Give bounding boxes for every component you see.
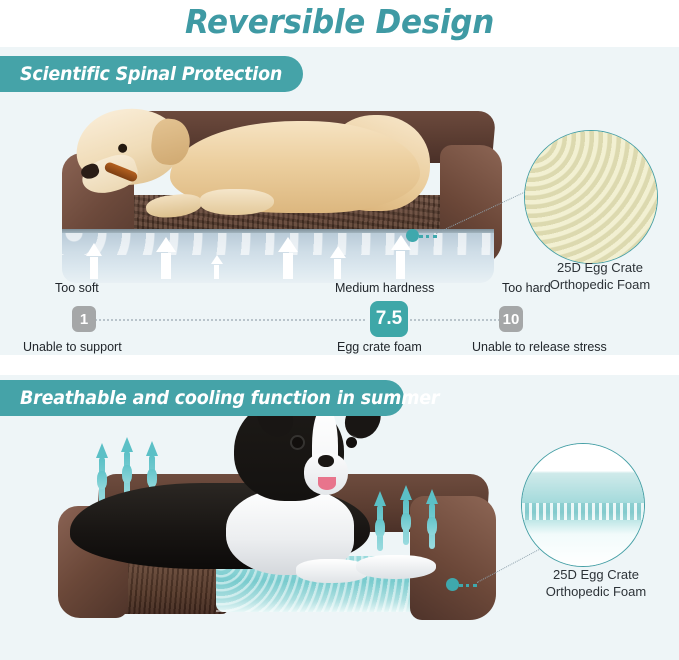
pressure-arrow: [334, 259, 341, 279]
section-2-scene: 25D Egg Crate Orthopedic Foam: [0, 375, 679, 660]
hardness-value-10: 10: [499, 306, 523, 332]
callout-line-1: 25D Egg Crate: [516, 566, 676, 583]
infographic-page: Reversible Design: [0, 0, 679, 660]
callout-line-2: Orthopedic Foam: [516, 583, 676, 600]
pressure-arrow: [283, 253, 293, 279]
hardness-value-1: 1: [72, 306, 96, 332]
hardness-label-too-soft: Too soft: [55, 281, 99, 295]
golden-retriever-illustration: [58, 97, 418, 237]
section-1-banner-label: Scientific Spinal Protection: [20, 63, 282, 85]
callout-anchor-dot: [446, 578, 459, 591]
section-1-scene: 25D Egg Crate Orthopedic Foam Too soft M…: [0, 47, 679, 355]
dog-eye: [292, 437, 303, 448]
dog-eye: [346, 437, 357, 448]
hardness-gradient-band: [62, 233, 494, 283]
dog-eye: [118, 143, 128, 153]
section-2-banner-label: Breathable and cooling function in summe…: [20, 387, 439, 409]
hardness-caption-1: Unable to support: [23, 340, 122, 354]
dog-nose: [318, 455, 334, 467]
pressure-arrow: [90, 257, 98, 279]
callout-anchor-dot: [406, 229, 419, 242]
callout-anchor-tail: [419, 235, 437, 238]
callout-line-1: 25D Egg Crate: [520, 259, 679, 276]
pressure-arrow: [161, 253, 171, 279]
dog-paw: [200, 189, 274, 215]
hardness-caption-10: Unable to release stress: [472, 340, 607, 354]
dog-paw: [145, 192, 203, 220]
section-divider: [0, 355, 679, 375]
cooling-gel-foam-texture: [522, 444, 644, 566]
section-1-banner: Scientific Spinal Protection: [0, 56, 303, 92]
scale-dotted-line-right: [410, 319, 500, 321]
dog-tongue: [318, 477, 336, 490]
egg-crate-foam-texture: [525, 131, 657, 263]
dog-paw: [356, 555, 436, 579]
pressure-arrow: [214, 265, 219, 279]
hardness-value-7-5: 7.5: [370, 301, 408, 337]
cooling-foam-callout-circle: [521, 443, 645, 567]
border-collie-illustration: [200, 397, 460, 587]
hardness-label-too-hard: Too hard: [502, 281, 551, 295]
callout-anchor-tail: [459, 584, 477, 587]
pressure-arrow: [396, 251, 405, 279]
dog-head: [234, 401, 344, 501]
egg-crate-foam-callout-circle: [524, 130, 658, 264]
section-2-banner: Breathable and cooling function in summe…: [0, 380, 404, 416]
hardness-caption-7-5: Egg crate foam: [337, 340, 422, 354]
hardness-label-medium-hardness: Medium hardness: [335, 281, 434, 295]
callout-label-2: 25D Egg Crate Orthopedic Foam: [516, 566, 676, 600]
page-title: Reversible Design: [20, 2, 658, 41]
scale-dotted-line-left: [95, 319, 365, 321]
